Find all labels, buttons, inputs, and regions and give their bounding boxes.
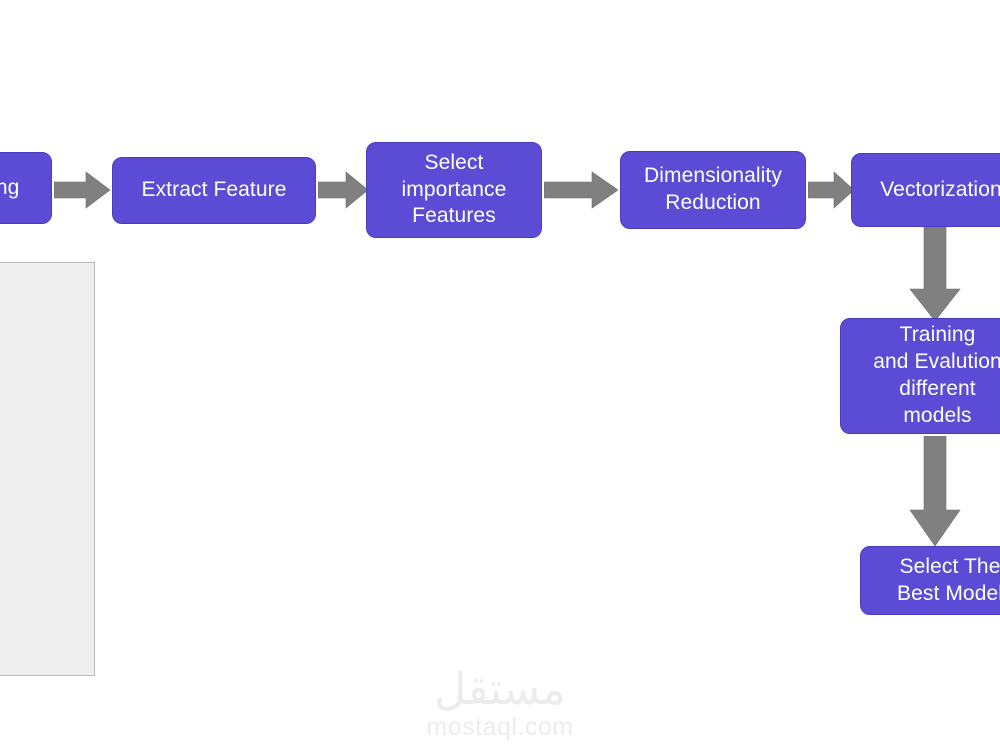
note-line: Label [0,563,84,594]
watermark: مستقل mostaql.com [0,667,1000,742]
node-dimensionality-reduction[interactable]: Dimensionality Reduction [620,151,806,229]
flowchart-canvas: sing Extract Feature Select importance F… [0,0,1000,750]
watermark-arabic-text: مستقل [0,667,1000,713]
node-select-importance-features[interactable]: Select importance Features [366,142,542,238]
node-select-best-model[interactable]: Select The Best Model [860,546,1000,615]
node-extract-feature[interactable]: Extract Feature [112,157,316,224]
note-line: g [0,427,84,458]
note-group: g Label [0,533,84,594]
note-line: ower [0,308,84,339]
note-line: g [0,533,84,564]
arrow-select-to-dimensionality [544,170,618,210]
note-group: ion g Stop [0,352,84,413]
arrow-vectorization-to-training [908,227,962,321]
note-line: g [0,488,84,519]
note-line: ion [0,458,84,489]
note-line: g Stop [0,383,84,414]
arrow-extract-to-select [318,170,368,210]
preprocessing-notes-panel: g All ower ion g Stop g ion g g Label [0,262,95,676]
arrow-preprocessing-to-extract [54,170,110,210]
arrow-training-to-best-model [908,436,962,546]
arrow-dimensionality-to-vectorization [808,170,854,210]
node-vectorization[interactable]: Vectorization [851,153,1000,227]
note-line: g All [0,277,84,308]
note-line: ion [0,352,84,383]
note-group: g All ower [0,277,84,338]
note-group: g ion g [0,427,84,519]
watermark-latin-text: mostaql.com [0,713,1000,742]
node-preprocessing[interactable]: sing [0,152,52,224]
node-training-evaluation[interactable]: Training and Evalution different models [840,318,1000,434]
